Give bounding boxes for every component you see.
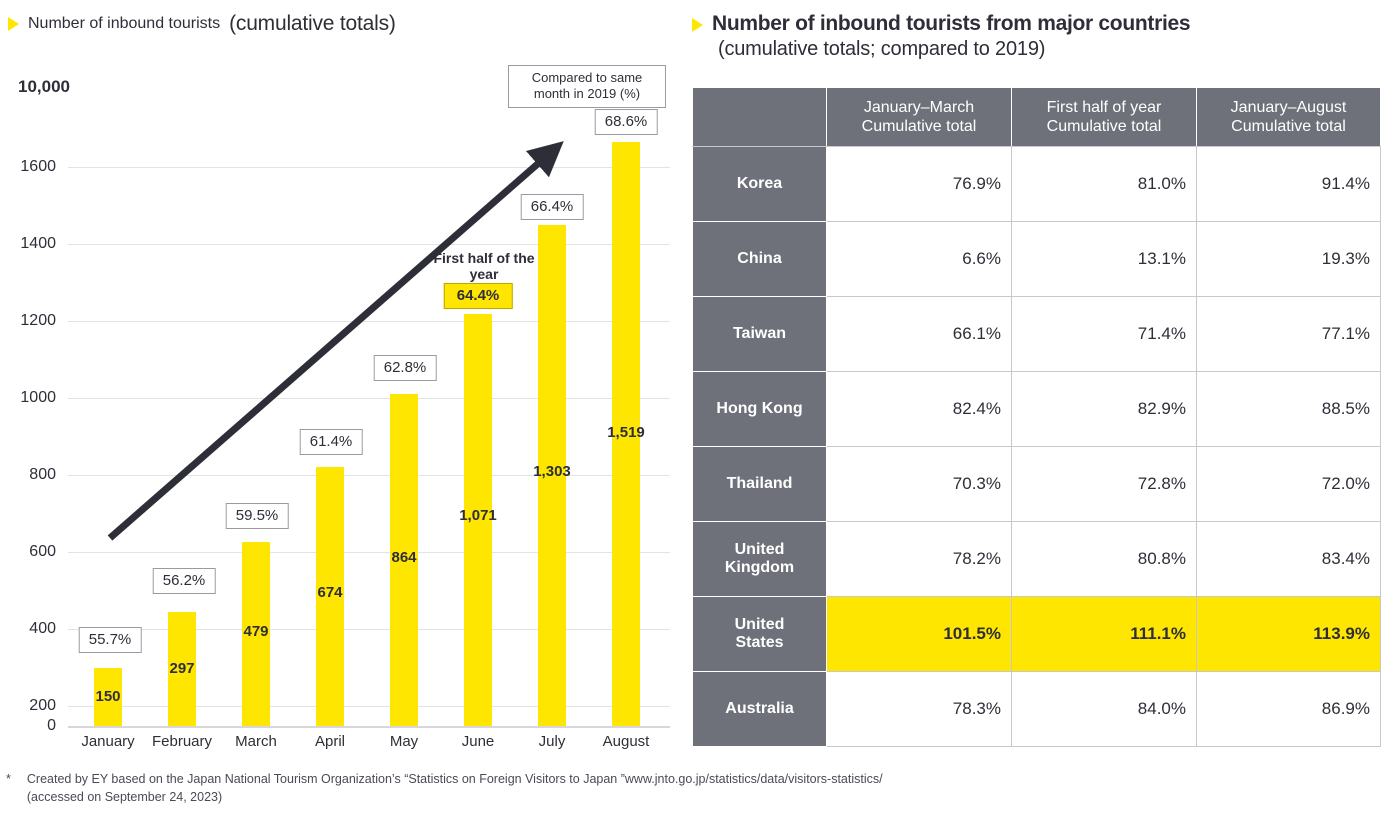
cell-taiwan-jan-march: 66.1% — [827, 297, 1012, 372]
right-title-main: Number of inbound tourists from major co… — [712, 12, 1190, 37]
cell-united-kingdom-jan-march: 78.2% — [827, 522, 1012, 597]
cell-australia-first-half: 84.0% — [1012, 672, 1197, 747]
table-row: Hong Kong 82.4% 82.9% 88.5% — [693, 372, 1381, 447]
cell-china-jan-march: 6.6% — [827, 222, 1012, 297]
cell-korea-jan-august: 91.4% — [1197, 147, 1381, 222]
gridline — [68, 244, 670, 245]
cell-hong-kong-first-half: 82.9% — [1012, 372, 1197, 447]
legend-note: Compared to same month in 2019 (%) — [508, 65, 666, 108]
header-line-2: Cumulative total — [1231, 118, 1346, 135]
pct-box-january: 55.7% — [79, 627, 142, 653]
table-header-first-half: First half of year Cumulative total — [1012, 88, 1197, 147]
header-line-1: First half of year — [1047, 99, 1162, 116]
gridline — [68, 398, 670, 399]
table-header-jan-august: January–August Cumulative total — [1197, 88, 1381, 147]
table-row-highlighted: United States 101.5% 111.1% 113.9% — [693, 597, 1381, 672]
y-tick-label: 1400 — [0, 235, 56, 253]
header-line-2: Cumulative total — [862, 118, 977, 135]
country-line-1: United — [735, 616, 785, 633]
chart-unit-label: 10,000 — [18, 77, 70, 97]
bar-value-january: 150 — [73, 688, 143, 705]
left-title-main: Number of inbound tourists — [28, 15, 220, 33]
bar-value-march: 479 — [221, 623, 291, 640]
gridline — [68, 629, 670, 630]
cell-taiwan-first-half: 71.4% — [1012, 297, 1197, 372]
x-label-august: August — [571, 733, 681, 750]
cell-hong-kong-jan-march: 82.4% — [827, 372, 1012, 447]
pct-box-february: 56.2% — [153, 568, 216, 594]
bar-value-february: 297 — [147, 660, 217, 677]
country-line-2: States — [735, 634, 783, 651]
major-countries-table: January–March Cumulative total First hal… — [692, 87, 1381, 747]
table-row: Korea 76.9% 81.0% 91.4% — [693, 147, 1381, 222]
cell-united-states-first-half: 111.1% — [1012, 597, 1197, 672]
cell-thailand-jan-august: 72.0% — [1197, 447, 1381, 522]
cell-hong-kong-jan-august: 88.5% — [1197, 372, 1381, 447]
major-countries-table-panel: Number of inbound tourists from major co… — [690, 0, 1390, 762]
gridline — [68, 321, 670, 322]
table-row: China 6.6% 13.1% 19.3% — [693, 222, 1381, 297]
cell-australia-jan-march: 78.3% — [827, 672, 1012, 747]
country-line-1: United — [735, 541, 785, 558]
cell-australia-jan-august: 86.9% — [1197, 672, 1381, 747]
table-header-jan-march: January–March Cumulative total — [827, 88, 1012, 147]
cell-thailand-jan-march: 70.3% — [827, 447, 1012, 522]
country-label-china: China — [693, 222, 827, 297]
bar-value-july: 1,303 — [517, 463, 587, 480]
bar-chart: 10,000 1600 1400 1200 1000 800 600 400 2… — [0, 55, 680, 762]
country-label-united-states: United States — [693, 597, 827, 672]
country-label-thailand: Thailand — [693, 447, 827, 522]
table-row: United Kingdom 78.2% 80.8% 83.4% — [693, 522, 1381, 597]
left-panel-title: Number of inbound tourists (cumulative t… — [8, 12, 396, 36]
bar-value-may: 864 — [369, 549, 439, 566]
left-title-sub: (cumulative totals) — [229, 12, 396, 36]
inbound-tourists-chart-panel: Number of inbound tourists (cumulative t… — [0, 0, 680, 762]
cell-korea-first-half: 81.0% — [1012, 147, 1197, 222]
footnote-marker: * — [6, 770, 11, 806]
y-tick-label: 600 — [0, 543, 56, 561]
pct-box-july: 66.4% — [521, 194, 584, 220]
header-line-2: Cumulative total — [1047, 118, 1162, 135]
cell-china-jan-august: 19.3% — [1197, 222, 1381, 297]
table-row: Australia 78.3% 84.0% 86.9% — [693, 672, 1381, 747]
y-tick-label: 400 — [0, 620, 56, 638]
table-header-corner — [693, 88, 827, 147]
table-row: Thailand 70.3% 72.8% 72.0% — [693, 447, 1381, 522]
pct-box-august: 68.6% — [595, 109, 658, 135]
footnote: * Created by EY based on the Japan Natio… — [6, 770, 1346, 806]
pct-box-june: 64.4% — [444, 283, 513, 309]
cell-united-states-jan-march: 101.5% — [827, 597, 1012, 672]
first-half-label-text: First half of the year — [433, 250, 534, 282]
first-half-label: First half of the year — [424, 250, 544, 282]
gridline — [68, 167, 670, 168]
pct-box-may: 62.8% — [374, 355, 437, 381]
footnote-line-2: (accessed on September 24, 2023) — [27, 790, 222, 804]
cell-united-kingdom-first-half: 80.8% — [1012, 522, 1197, 597]
y-tick-label: 200 — [0, 697, 56, 715]
cell-united-kingdom-jan-august: 83.4% — [1197, 522, 1381, 597]
country-label-korea: Korea — [693, 147, 827, 222]
triangle-bullet-icon — [8, 17, 19, 31]
y-tick-label: 1000 — [0, 389, 56, 407]
header-line-1: January–March — [864, 99, 974, 116]
cell-korea-jan-march: 76.9% — [827, 147, 1012, 222]
pct-box-april: 61.4% — [300, 429, 363, 455]
y-tick-label: 0 — [0, 717, 56, 735]
header-line-1: January–August — [1231, 99, 1347, 116]
bar-value-april: 674 — [295, 584, 365, 601]
right-title-sub: (cumulative totals; compared to 2019) — [712, 37, 1190, 61]
country-label-united-kingdom: United Kingdom — [693, 522, 827, 597]
triangle-bullet-icon — [692, 18, 703, 32]
cell-united-states-jan-august: 113.9% — [1197, 597, 1381, 672]
y-tick-label: 800 — [0, 466, 56, 484]
gridline — [68, 706, 670, 707]
table-row: Taiwan 66.1% 71.4% 77.1% — [693, 297, 1381, 372]
y-tick-label: 1600 — [0, 158, 56, 176]
cell-thailand-first-half: 72.8% — [1012, 447, 1197, 522]
country-label-taiwan: Taiwan — [693, 297, 827, 372]
table-header-row: January–March Cumulative total First hal… — [693, 88, 1381, 147]
pct-box-march: 59.5% — [226, 503, 289, 529]
bar-value-june: 1,071 — [443, 507, 513, 524]
y-tick-label: 1200 — [0, 312, 56, 330]
right-panel-title: Number of inbound tourists from major co… — [692, 12, 1190, 61]
country-label-hong-kong: Hong Kong — [693, 372, 827, 447]
country-label-australia: Australia — [693, 672, 827, 747]
cell-china-first-half: 13.1% — [1012, 222, 1197, 297]
axis-baseline — [68, 726, 670, 728]
country-line-2: Kingdom — [725, 559, 794, 576]
bar-value-august: 1,519 — [591, 424, 661, 441]
cell-taiwan-jan-august: 77.1% — [1197, 297, 1381, 372]
footnote-line-1: Created by EY based on the Japan Nationa… — [27, 772, 883, 786]
